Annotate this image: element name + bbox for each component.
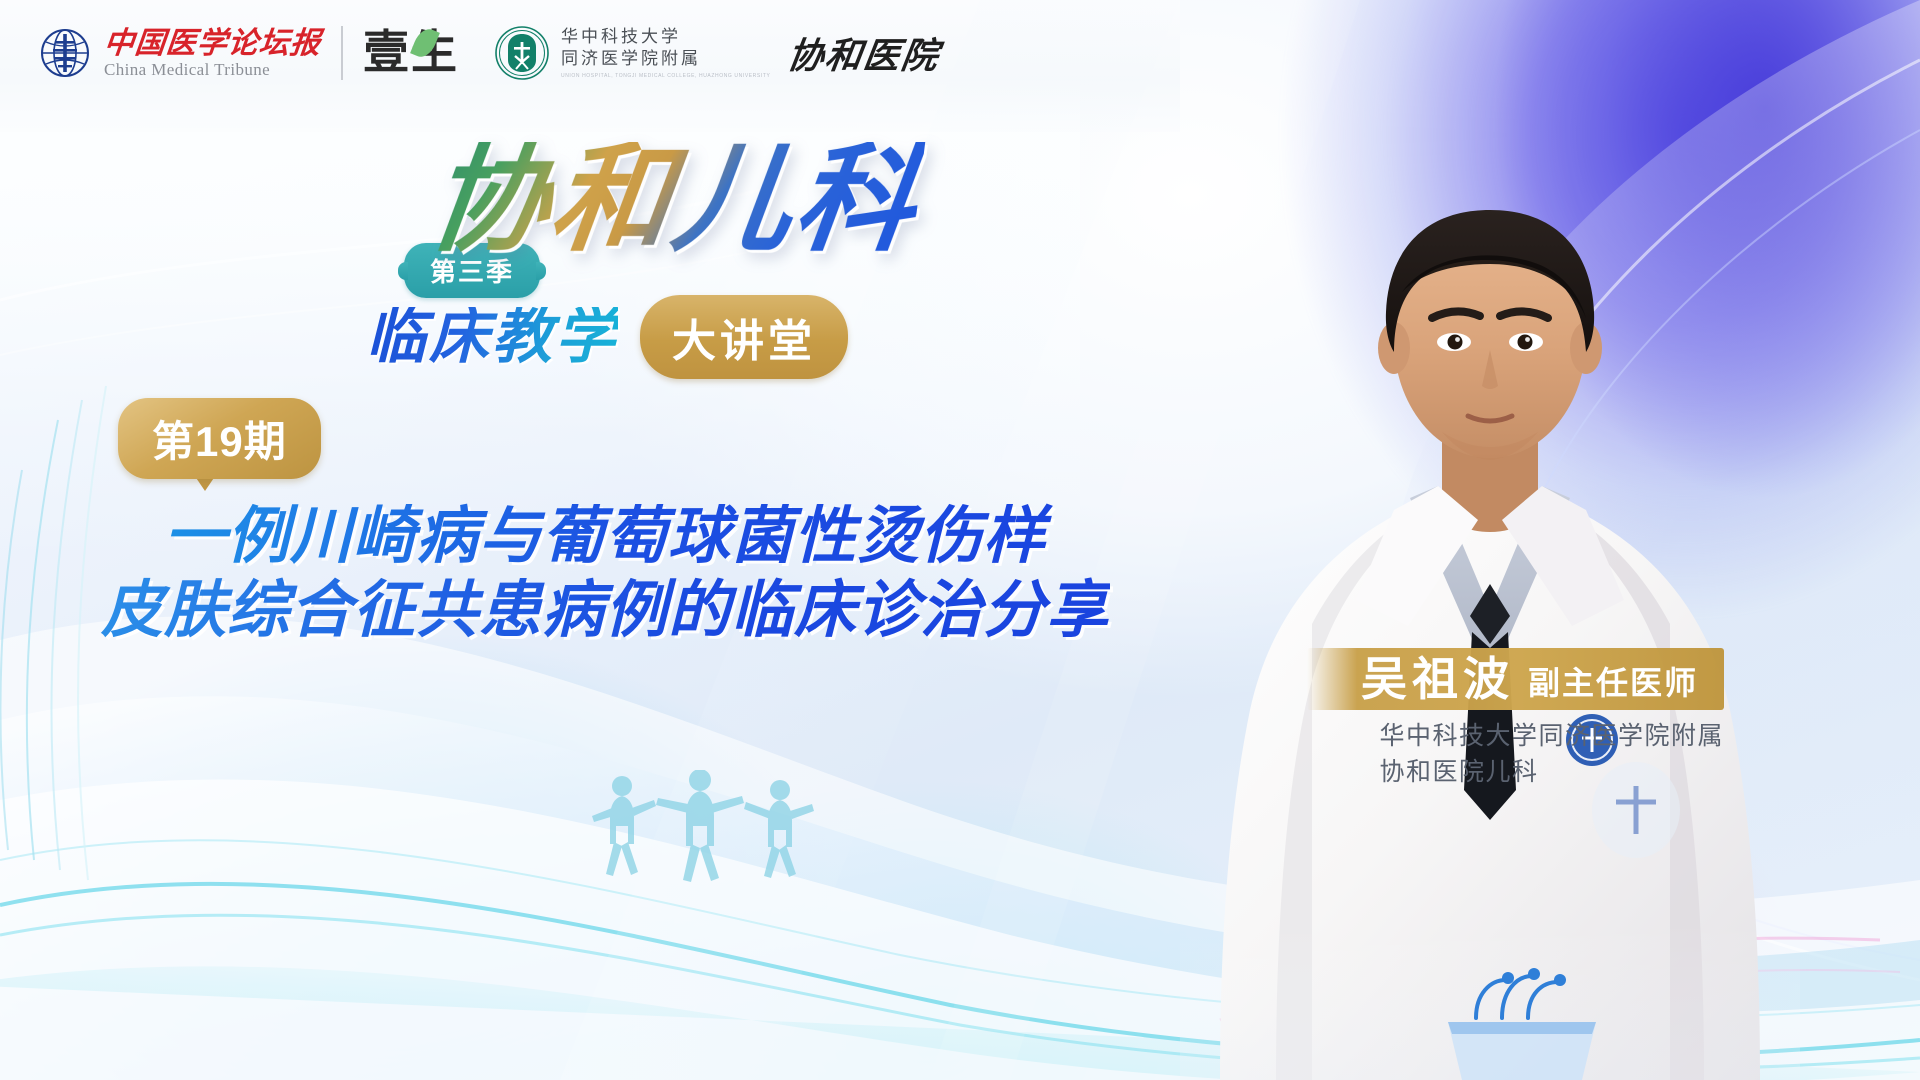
program-forum-pill: 大讲堂 <box>640 295 848 379</box>
lecture-title: 一例川崎病与葡萄球菌性烫伤样 皮肤综合征共患病例的临床诊治分享 <box>100 500 1110 649</box>
lectern-microphone-icon <box>1420 960 1620 1080</box>
episode-badge: 第19期 <box>118 398 321 479</box>
logo-divider <box>341 26 343 80</box>
speaker-name-banner: 吴祖波 副主任医师 <box>1307 648 1724 710</box>
speaker-affiliation: 华中科技大学同济医学院附属 协和医院儿科 <box>1379 718 1724 791</box>
program-title-calligraphy: 协和儿科 <box>423 142 926 260</box>
cmt-logo: 中国医学论坛报 China Medical Tribune <box>40 28 321 78</box>
hospital-calligraphy: 协和医院 <box>785 27 944 79</box>
speaker-rank: 副主任医师 <box>1528 664 1698 702</box>
poster-canvas: 中国医学论坛报 China Medical Tribune 壹生 华中科技大学 … <box>0 0 1920 1080</box>
lecture-title-line1: 一例川崎病与葡萄球菌性烫伤样 <box>100 500 1110 574</box>
hospital-seal-icon <box>495 26 549 80</box>
globe-caduceus-icon <box>40 28 90 78</box>
children-running-silhouette <box>588 770 828 900</box>
program-subtitle: 临床教学 <box>366 307 618 367</box>
cmt-wordmark: 中国医学论坛报 China Medical Tribune <box>104 29 321 78</box>
hospital-line-en: UNION HOSPITAL, TONGJI MEDICAL COLLEGE, … <box>561 73 770 79</box>
hospital-line1: 华中科技大学 <box>561 27 770 47</box>
lecture-title-line2: 皮肤综合征共患病例的临床诊治分享 <box>100 574 1110 648</box>
hospital-logo: 华中科技大学 同济医学院附属 UNION HOSPITAL, TONGJI ME… <box>495 26 940 80</box>
speaker-affiliation-line2: 协和医院儿科 <box>1379 754 1724 790</box>
speaker-name: 吴祖波 <box>1361 656 1514 702</box>
cmt-name-cn: 中国医学论坛报 <box>102 29 322 59</box>
header-logos: 中国医学论坛报 China Medical Tribune 壹生 华中科技大学 … <box>40 26 940 80</box>
speaker-affiliation-line1: 华中科技大学同济医学院附属 <box>1379 718 1724 754</box>
cmt-name-en: China Medical Tribune <box>104 61 321 78</box>
hospital-line2: 同济医学院附属 <box>561 49 770 69</box>
hospital-name-block: 华中科技大学 同济医学院附属 UNION HOSPITAL, TONGJI ME… <box>561 27 770 78</box>
yisheng-logo: 壹生 <box>363 30 459 76</box>
program-subtitle-row: 临床教学 大讲堂 <box>366 295 848 379</box>
speaker-portrait <box>1180 180 1800 1080</box>
